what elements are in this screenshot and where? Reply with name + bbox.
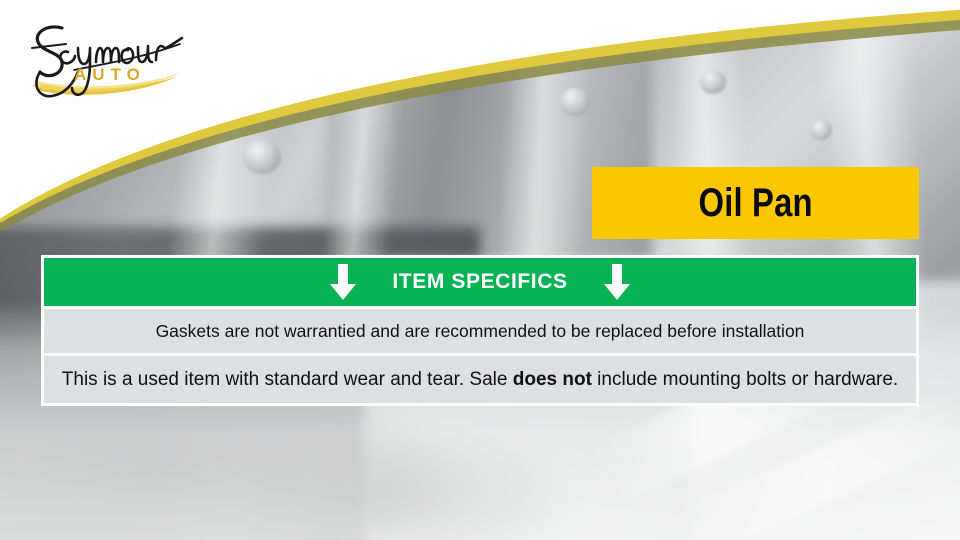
- photo-bolt-head: [243, 140, 281, 174]
- spec-text-part-after: include mounting bolts or hardware.: [592, 369, 898, 390]
- item-specifics-header: ITEM SPECIFICS: [44, 258, 916, 306]
- spec-text-part-bold: does not: [513, 369, 592, 390]
- product-title-plate: Oil Pan: [592, 167, 919, 239]
- table-row: Gaskets are not warrantied and are recom…: [44, 309, 916, 353]
- item-specifics-label: ITEM SPECIFICS: [392, 270, 567, 294]
- photo-bolt-head: [700, 70, 726, 94]
- spec-text-gaskets: Gaskets are not warrantied and are recom…: [156, 321, 805, 341]
- spec-text-part-before: This is a used item with standard wear a…: [62, 369, 513, 390]
- photo-bolt-head: [810, 120, 832, 140]
- photo-bolt-head: [560, 88, 590, 116]
- logo-auto-text: AUTO: [74, 65, 146, 84]
- slide-canvas: AUTO Oil Pan ITEM SPECIFICS Gaskets are …: [0, 0, 960, 540]
- photo-shadow-area: [250, 421, 576, 540]
- arrow-down-icon: [602, 262, 632, 302]
- page-title: Oil Pan: [698, 183, 812, 223]
- arrow-down-icon: [328, 262, 358, 302]
- spec-text-used-item: This is a used item with standard wear a…: [62, 369, 898, 391]
- seymour-auto-logo: AUTO: [18, 14, 204, 106]
- item-specifics-table: ITEM SPECIFICS Gaskets are not warrantie…: [41, 255, 919, 406]
- table-row: This is a used item with standard wear a…: [44, 356, 916, 403]
